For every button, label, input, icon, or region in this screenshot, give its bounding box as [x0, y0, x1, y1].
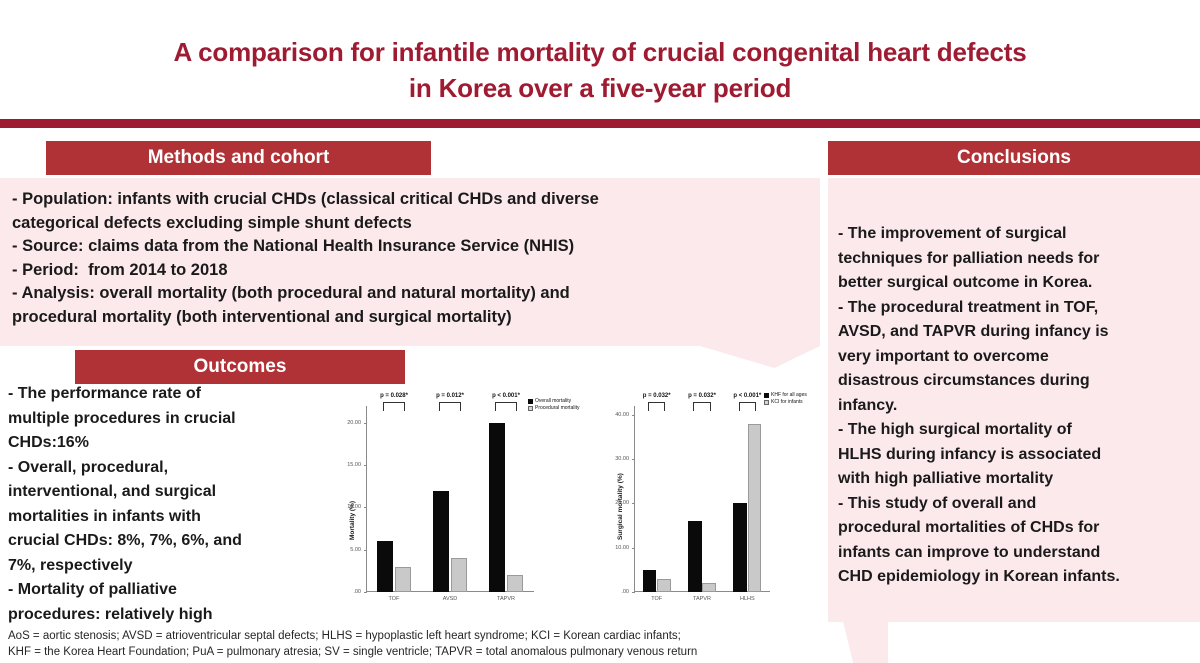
- y-axis-tick-mark: [632, 592, 635, 593]
- legend-swatch-icon: [764, 400, 769, 405]
- legend-swatch-icon: [528, 406, 533, 411]
- y-axis-tick-mark: [632, 415, 635, 416]
- methods-panel-tail: [700, 346, 820, 368]
- conclusions-header: Conclusions: [828, 141, 1200, 175]
- y-axis-tick-label: 10.00: [592, 545, 629, 551]
- legend-item: Procedural mortality: [528, 405, 579, 412]
- y-axis-tick-mark: [632, 459, 635, 460]
- bar-AVSD-series2: [451, 558, 468, 592]
- significance-bracket: [495, 402, 516, 411]
- p-value-annotation: p = 0.028*: [366, 393, 422, 399]
- chart-surgical-mortality-khf-vs-kci: Surgical mortality (%).0010.0020.0030.00…: [592, 384, 828, 614]
- y-axis-tick-label: 20.00: [592, 500, 629, 506]
- y-axis-tick-label: 5.00: [330, 547, 361, 553]
- title-line-1: A comparison for infantile mortality of …: [0, 34, 1200, 70]
- p-value-annotation: p = 0.032*: [634, 393, 679, 399]
- x-axis-tick-label: TOF: [634, 596, 679, 602]
- y-axis-tick-mark: [364, 465, 367, 466]
- legend-label: Overall mortality: [535, 398, 571, 405]
- x-axis-tick-label: TAPVR: [679, 596, 724, 602]
- bar-TOF-series2: [657, 579, 671, 592]
- legend-item: KCI for infants: [764, 399, 807, 406]
- significance-bracket: [439, 402, 460, 411]
- y-axis-tick-mark: [364, 507, 367, 508]
- x-axis-tick-label: AVSD: [422, 596, 478, 602]
- conclusions-body-text: - The improvement of surgical techniques…: [838, 222, 1196, 590]
- legend-swatch-icon: [528, 399, 533, 404]
- methods-body-text: - Population: infants with crucial CHDs …: [12, 188, 812, 329]
- y-axis-title: Surgical mortality (%): [617, 473, 624, 540]
- bar-TOF-series1: [643, 570, 657, 592]
- y-axis-tick-label: 15.00: [330, 462, 361, 468]
- significance-bracket: [693, 402, 710, 411]
- bar-TOF-series1: [377, 541, 394, 592]
- significance-bracket: [648, 402, 665, 411]
- legend-item: KHF for all ages: [764, 392, 807, 399]
- p-value-annotation: p = 0.032*: [679, 393, 724, 399]
- p-value-annotation: p < 0.001*: [478, 393, 534, 399]
- chart-legend: Overall mortalityProcedural mortality: [528, 398, 579, 412]
- outcomes-body-text: - The performance rate of multiple proce…: [8, 382, 328, 627]
- legend-label: KCI for infants: [771, 399, 803, 406]
- p-value-annotation: p = 0.012*: [422, 393, 478, 399]
- x-axis-tick-label: HLHS: [725, 596, 770, 602]
- x-axis-tick-label: TOF: [366, 596, 422, 602]
- bar-HLHS-series2: [748, 424, 762, 592]
- chart-legend: KHF for all agesKCI for infants: [764, 392, 807, 406]
- title-line-2: in Korea over a five-year period: [0, 70, 1200, 106]
- y-axis-tick-mark: [364, 592, 367, 593]
- y-axis-tick-mark: [364, 550, 367, 551]
- chart-overall-vs-procedural-mortality: Mortality (%).005.0010.0015.0020.00TOFp …: [330, 384, 592, 614]
- outcomes-header: Outcomes: [75, 350, 405, 384]
- y-axis-tick-label: 10.00: [330, 504, 361, 510]
- significance-bracket: [739, 402, 756, 411]
- bar-TAPVR-series1: [489, 423, 506, 592]
- legend-label: Procedural mortality: [535, 405, 579, 412]
- bar-AVSD-series1: [433, 491, 450, 592]
- bar-TOF-series2: [395, 567, 412, 592]
- legend-label: KHF for all ages: [771, 392, 807, 399]
- bar-TAPVR-series2: [507, 575, 524, 592]
- y-axis-tick-label: 30.00: [592, 456, 629, 462]
- y-axis-tick-mark: [632, 503, 635, 504]
- title-divider-rule: [0, 119, 1200, 128]
- legend-swatch-icon: [764, 393, 769, 398]
- x-axis-tick-label: TAPVR: [478, 596, 534, 602]
- bar-HLHS-series1: [733, 503, 747, 592]
- significance-bracket: [383, 402, 404, 411]
- bar-TAPVR-series1: [688, 521, 702, 592]
- methods-header: Methods and cohort: [46, 141, 431, 175]
- y-axis-tick-label: .00: [592, 589, 629, 595]
- y-axis-tick-label: 20.00: [330, 420, 361, 426]
- y-axis-tick-mark: [364, 423, 367, 424]
- legend-item: Overall mortality: [528, 398, 579, 405]
- y-axis-tick-label: .00: [330, 589, 361, 595]
- abbreviations-footnote: AoS = aortic stenosis; AVSD = atrioventr…: [8, 628, 828, 660]
- y-axis-tick-mark: [632, 548, 635, 549]
- y-axis-tick-label: 40.00: [592, 412, 629, 418]
- bar-TAPVR-series2: [702, 583, 716, 592]
- poster-title: A comparison for infantile mortality of …: [0, 34, 1200, 106]
